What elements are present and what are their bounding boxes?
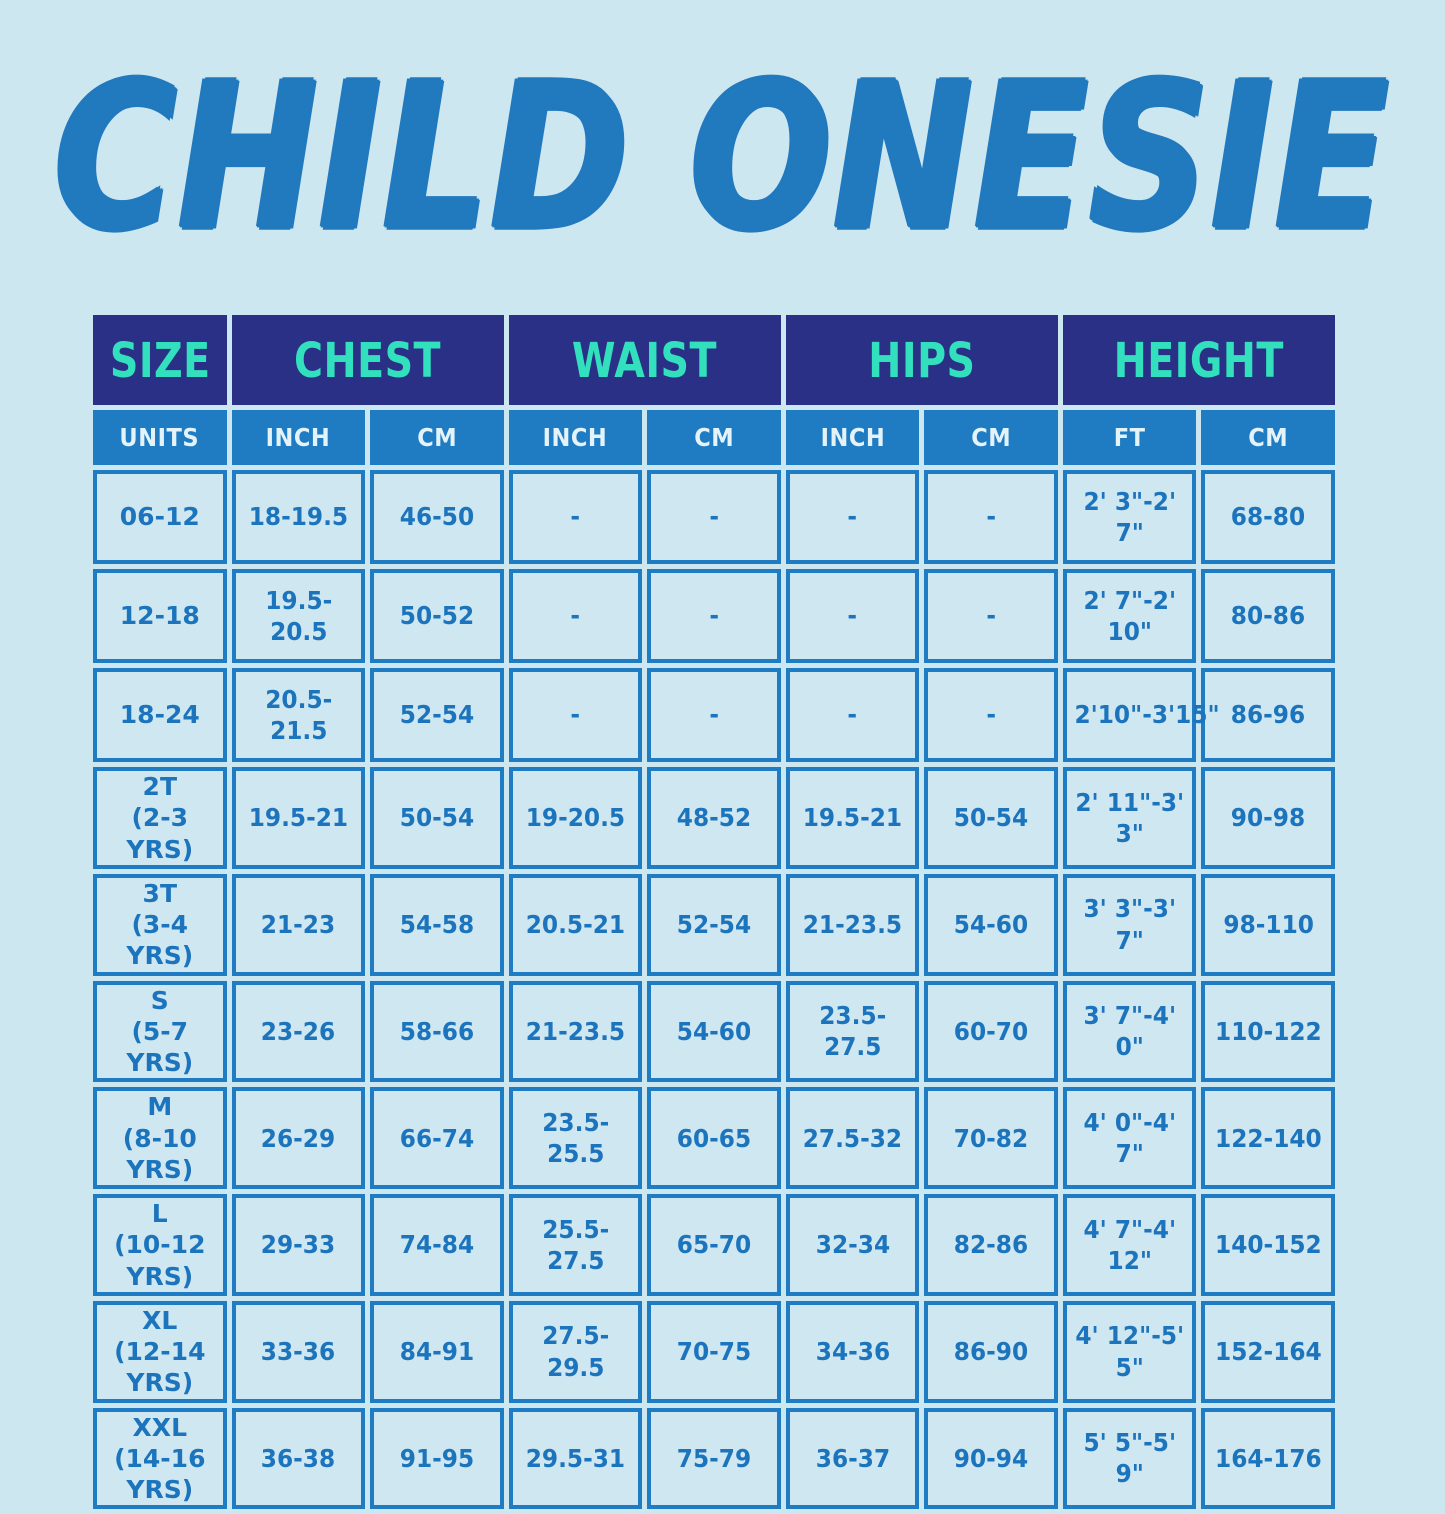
group-header-row: SIZECHESTWAISTHIPSHEIGHT xyxy=(93,315,1335,405)
table-row: L(10-12 YRS)29-3374-8425.5-27.565-7032-3… xyxy=(93,1194,1335,1296)
table-row: 3T(3-4 YRS)21-2354-5820.5-2152-5421-23.5… xyxy=(93,874,1335,976)
size-chart-page: CHILD ONESIE SIZECHESTWAISTHIPSHEIGHT UN… xyxy=(0,0,1445,1445)
cell-height-ft: 2'10"-3'15" xyxy=(1063,668,1197,762)
cell-value: 34-36 xyxy=(815,1336,889,1367)
cell-value: 2' 3"-2' 7" xyxy=(1073,486,1186,549)
size-label: XL xyxy=(99,1305,221,1336)
cell-height-cm: 164-176 xyxy=(1201,1408,1335,1510)
cell-hips-cm: 70-82 xyxy=(924,1087,1058,1189)
cell-value: 60-70 xyxy=(954,1016,1028,1047)
size-age-label: (5-7 YRS) xyxy=(99,1016,221,1079)
cell-value: 90-98 xyxy=(1231,802,1305,833)
unit-header-7: FT xyxy=(1063,410,1197,465)
cell-value: 86-90 xyxy=(954,1336,1028,1367)
cell-hips-inch: - xyxy=(786,470,920,564)
cell-chest-inch: 19.5-21 xyxy=(232,767,366,869)
cell-value: 4' 7"-4' 12" xyxy=(1073,1214,1186,1277)
cell-hips-cm: 86-90 xyxy=(924,1301,1058,1403)
size-label: S xyxy=(99,985,221,1016)
unit-header-0: UNITS xyxy=(93,410,227,465)
cell-value: - xyxy=(571,699,581,730)
cell-value: 50-52 xyxy=(400,600,474,631)
cell-value: 164-176 xyxy=(1215,1443,1322,1474)
size-label: 2T xyxy=(99,771,221,802)
unit-header-label: INCH xyxy=(266,423,331,452)
cell-chest-inch: 26-29 xyxy=(232,1087,366,1189)
cell-hips-cm: 82-86 xyxy=(924,1194,1058,1296)
cell-value: 2' 7"-2' 10" xyxy=(1073,585,1186,648)
cell-waist-cm: 65-70 xyxy=(647,1194,781,1296)
size-label: M xyxy=(99,1091,221,1122)
unit-header-8: CM xyxy=(1201,410,1335,465)
cell-waist-inch: 27.5-29.5 xyxy=(509,1301,643,1403)
cell-value: - xyxy=(848,600,858,631)
size-age-label: (8-10 YRS) xyxy=(99,1123,221,1186)
cell-size: L(10-12 YRS) xyxy=(93,1194,227,1296)
cell-size: M(8-10 YRS) xyxy=(93,1087,227,1189)
cell-chest-cm: 74-84 xyxy=(370,1194,504,1296)
cell-value: 21-23.5 xyxy=(803,909,902,940)
cell-height-cm: 98-110 xyxy=(1201,874,1335,976)
group-header-label: HEIGHT xyxy=(1114,332,1284,388)
unit-header-label: CM xyxy=(694,423,734,452)
size-age-label: (3-4 YRS) xyxy=(99,909,221,972)
cell-value: 60-65 xyxy=(677,1123,751,1154)
cell-height-ft: 3' 3"-3' 7" xyxy=(1063,874,1197,976)
cell-value: 23.5-25.5 xyxy=(519,1107,632,1170)
cell-waist-cm: 60-65 xyxy=(647,1087,781,1189)
cell-waist-cm: 54-60 xyxy=(647,981,781,1083)
cell-value: - xyxy=(571,501,581,532)
cell-waist-inch: 23.5-25.5 xyxy=(509,1087,643,1189)
cell-value: 19.5-21 xyxy=(249,802,348,833)
cell-waist-cm: 75-79 xyxy=(647,1408,781,1510)
cell-value: 21-23 xyxy=(261,909,335,940)
cell-value: 25.5-27.5 xyxy=(519,1214,632,1277)
cell-value: 58-66 xyxy=(400,1016,474,1047)
group-header-size: SIZE xyxy=(93,315,227,405)
cell-value: - xyxy=(986,699,996,730)
cell-hips-cm: 54-60 xyxy=(924,874,1058,976)
unit-header-4: CM xyxy=(647,410,781,465)
group-header-height: HEIGHT xyxy=(1063,315,1335,405)
size-age-label: (12-14 YRS) xyxy=(99,1336,221,1399)
cell-height-ft: 2' 11"-3' 3" xyxy=(1063,767,1197,869)
cell-value: 110-122 xyxy=(1215,1016,1322,1047)
cell-value: 2' 11"-3' 3" xyxy=(1073,787,1186,850)
cell-hips-cm: 90-94 xyxy=(924,1408,1058,1510)
cell-waist-inch: 21-23.5 xyxy=(509,981,643,1083)
cell-value: 29-33 xyxy=(261,1229,335,1260)
cell-height-ft: 4' 7"-4' 12" xyxy=(1063,1194,1197,1296)
cell-value: - xyxy=(986,501,996,532)
size-chart-table: SIZECHESTWAISTHIPSHEIGHT UNITSINCHCMINCH… xyxy=(88,310,1340,1514)
cell-height-ft: 4' 0"-4' 7" xyxy=(1063,1087,1197,1189)
group-header-label: WAIST xyxy=(572,332,717,388)
cell-hips-cm: 50-54 xyxy=(924,767,1058,869)
cell-value: - xyxy=(709,501,719,532)
cell-value: 32-34 xyxy=(815,1229,889,1260)
table-row: S(5-7 YRS)23-2658-6621-23.554-6023.5-27.… xyxy=(93,981,1335,1083)
cell-value: 36-37 xyxy=(815,1443,889,1474)
cell-height-ft: 5' 5"-5' 9" xyxy=(1063,1408,1197,1510)
cell-value: 70-75 xyxy=(677,1336,751,1367)
table-row: XXL(14-16 YRS)36-3891-9529.5-3175-7936-3… xyxy=(93,1408,1335,1510)
cell-waist-inch: 20.5-21 xyxy=(509,874,643,976)
cell-height-cm: 68-80 xyxy=(1201,470,1335,564)
cell-value: 21-23.5 xyxy=(526,1016,625,1047)
size-label: 3T xyxy=(99,878,221,909)
cell-value: - xyxy=(848,699,858,730)
cell-value: 84-91 xyxy=(400,1336,474,1367)
table-row: 2T(2-3 YRS)19.5-2150-5419-20.548-5219.5-… xyxy=(93,767,1335,869)
cell-size: XXL(14-16 YRS) xyxy=(93,1408,227,1510)
cell-size: 06-12 xyxy=(93,470,227,564)
cell-value: 54-58 xyxy=(400,909,474,940)
cell-waist-inch: 19-20.5 xyxy=(509,767,643,869)
group-header-label: SIZE xyxy=(109,332,210,388)
cell-value: 20.5-21.5 xyxy=(242,684,355,747)
cell-value: 65-70 xyxy=(677,1229,751,1260)
cell-value: 52-54 xyxy=(400,699,474,730)
cell-value: 48-52 xyxy=(677,802,751,833)
group-header-label: CHEST xyxy=(294,332,441,388)
cell-hips-inch: 19.5-21 xyxy=(786,767,920,869)
table-row: 18-2420.5-21.552-54----2'10"-3'15"86-96 xyxy=(93,668,1335,762)
cell-value: 91-95 xyxy=(400,1443,474,1474)
cell-value: 19-20.5 xyxy=(526,802,625,833)
cell-value: 152-164 xyxy=(1215,1336,1322,1367)
cell-value: 36-38 xyxy=(261,1443,335,1474)
unit-header-2: CM xyxy=(370,410,504,465)
group-header-chest: CHEST xyxy=(232,315,504,405)
size-label: 18-24 xyxy=(99,699,221,730)
cell-chest-cm: 50-54 xyxy=(370,767,504,869)
cell-value: 19.5-20.5 xyxy=(242,585,355,648)
cell-value: 27.5-29.5 xyxy=(519,1320,632,1383)
cell-value: - xyxy=(986,600,996,631)
cell-height-ft: 2' 3"-2' 7" xyxy=(1063,470,1197,564)
cell-value: 86-96 xyxy=(1231,699,1305,730)
cell-chest-inch: 29-33 xyxy=(232,1194,366,1296)
unit-header-label: CM xyxy=(971,423,1011,452)
cell-height-ft: 4' 12"-5' 5" xyxy=(1063,1301,1197,1403)
cell-hips-inch: 27.5-32 xyxy=(786,1087,920,1189)
size-chart-table-area: SIZECHESTWAISTHIPSHEIGHT UNITSINCHCMINCH… xyxy=(88,310,1340,1514)
cell-chest-cm: 58-66 xyxy=(370,981,504,1083)
cell-value: 3' 3"-3' 7" xyxy=(1073,893,1186,956)
cell-hips-cm: - xyxy=(924,470,1058,564)
cell-size: S(5-7 YRS) xyxy=(93,981,227,1083)
cell-value: 2'10"-3'15" xyxy=(1074,699,1219,730)
cell-value: 20.5-21 xyxy=(526,909,625,940)
cell-height-ft: 3' 7"-4' 0" xyxy=(1063,981,1197,1083)
cell-value: 82-86 xyxy=(954,1229,1028,1260)
cell-chest-inch: 33-36 xyxy=(232,1301,366,1403)
cell-chest-cm: 50-52 xyxy=(370,569,504,663)
cell-hips-inch: 36-37 xyxy=(786,1408,920,1510)
cell-hips-inch: - xyxy=(786,569,920,663)
cell-value: 140-152 xyxy=(1215,1229,1322,1260)
cell-hips-cm: - xyxy=(924,569,1058,663)
unit-header-label: INCH xyxy=(820,423,885,452)
cell-waist-inch: - xyxy=(509,470,643,564)
cell-value: 26-29 xyxy=(261,1123,335,1154)
cell-value: - xyxy=(709,600,719,631)
cell-chest-cm: 84-91 xyxy=(370,1301,504,1403)
cell-value: - xyxy=(571,600,581,631)
cell-value: 23-26 xyxy=(261,1016,335,1047)
cell-height-cm: 122-140 xyxy=(1201,1087,1335,1189)
unit-header-6: CM xyxy=(924,410,1058,465)
cell-chest-cm: 46-50 xyxy=(370,470,504,564)
table-row: 12-1819.5-20.550-52----2' 7"-2' 10"80-86 xyxy=(93,569,1335,663)
cell-value: 18-19.5 xyxy=(249,501,348,532)
unit-header-1: INCH xyxy=(232,410,366,465)
cell-value: 19.5-21 xyxy=(803,802,902,833)
cell-value: 66-74 xyxy=(400,1123,474,1154)
cell-value: 4' 0"-4' 7" xyxy=(1073,1107,1186,1170)
cell-size: 3T(3-4 YRS) xyxy=(93,874,227,976)
group-header-hips: HIPS xyxy=(786,315,1058,405)
table-row: M(8-10 YRS)26-2966-7423.5-25.560-6527.5-… xyxy=(93,1087,1335,1189)
cell-value: 27.5-32 xyxy=(803,1123,902,1154)
cell-waist-cm: 48-52 xyxy=(647,767,781,869)
group-header-waist: WAIST xyxy=(509,315,781,405)
size-age-label: (2-3 YRS) xyxy=(99,802,221,865)
cell-size: 12-18 xyxy=(93,569,227,663)
cell-value: 33-36 xyxy=(261,1336,335,1367)
cell-value: 80-86 xyxy=(1231,600,1305,631)
cell-chest-inch: 36-38 xyxy=(232,1408,366,1510)
cell-chest-cm: 54-58 xyxy=(370,874,504,976)
cell-value: 5' 5"-5' 9" xyxy=(1073,1427,1186,1490)
cell-height-cm: 110-122 xyxy=(1201,981,1335,1083)
cell-size: 18-24 xyxy=(93,668,227,762)
size-label: 12-18 xyxy=(99,600,221,631)
unit-header-5: INCH xyxy=(786,410,920,465)
cell-hips-inch: 23.5-27.5 xyxy=(786,981,920,1083)
cell-value: 70-82 xyxy=(954,1123,1028,1154)
size-chart-body: 06-1218-19.546-50----2' 3"-2' 7"68-8012-… xyxy=(93,470,1335,1509)
cell-height-cm: 152-164 xyxy=(1201,1301,1335,1403)
page-title: CHILD ONESIE xyxy=(0,44,1445,274)
unit-header-label: UNITS xyxy=(120,423,200,452)
cell-waist-cm: 52-54 xyxy=(647,874,781,976)
cell-waist-inch: 25.5-27.5 xyxy=(509,1194,643,1296)
cell-chest-inch: 21-23 xyxy=(232,874,366,976)
cell-value: 50-54 xyxy=(954,802,1028,833)
cell-chest-inch: 18-19.5 xyxy=(232,470,366,564)
size-age-label: (10-12 YRS) xyxy=(99,1229,221,1292)
cell-height-cm: 140-152 xyxy=(1201,1194,1335,1296)
cell-value: 3' 7"-4' 0" xyxy=(1073,1000,1186,1063)
cell-value: 68-80 xyxy=(1231,501,1305,532)
cell-height-cm: 90-98 xyxy=(1201,767,1335,869)
size-label: 06-12 xyxy=(99,501,221,532)
cell-waist-cm: - xyxy=(647,569,781,663)
unit-header-row: UNITSINCHCMINCHCMINCHCMFTCM xyxy=(93,410,1335,465)
cell-hips-cm: 60-70 xyxy=(924,981,1058,1083)
cell-hips-inch: 34-36 xyxy=(786,1301,920,1403)
cell-height-cm: 80-86 xyxy=(1201,569,1335,663)
cell-value: 122-140 xyxy=(1215,1123,1322,1154)
cell-value: - xyxy=(848,501,858,532)
cell-value: 90-94 xyxy=(954,1443,1028,1474)
cell-height-cm: 86-96 xyxy=(1201,668,1335,762)
cell-value: 75-79 xyxy=(677,1443,751,1474)
cell-hips-inch: 32-34 xyxy=(786,1194,920,1296)
cell-size: 2T(2-3 YRS) xyxy=(93,767,227,869)
cell-hips-inch: 21-23.5 xyxy=(786,874,920,976)
cell-height-ft: 2' 7"-2' 10" xyxy=(1063,569,1197,663)
cell-value: 54-60 xyxy=(677,1016,751,1047)
group-header-label: HIPS xyxy=(868,332,975,388)
cell-chest-inch: 23-26 xyxy=(232,981,366,1083)
cell-value: 46-50 xyxy=(400,501,474,532)
size-label: XXL xyxy=(99,1412,221,1443)
table-row: XL(12-14 YRS)33-3684-9127.5-29.570-7534-… xyxy=(93,1301,1335,1403)
cell-value: 98-110 xyxy=(1223,909,1314,940)
cell-value: 52-54 xyxy=(677,909,751,940)
page-title-text: CHILD ONESIE xyxy=(54,58,1390,261)
cell-hips-inch: - xyxy=(786,668,920,762)
size-age-label: (14-16 YRS) xyxy=(99,1443,221,1506)
cell-size: XL(12-14 YRS) xyxy=(93,1301,227,1403)
cell-waist-cm: 70-75 xyxy=(647,1301,781,1403)
cell-waist-inch: - xyxy=(509,569,643,663)
unit-header-label: INCH xyxy=(543,423,608,452)
unit-header-label: CM xyxy=(1248,423,1288,452)
cell-chest-inch: 20.5-21.5 xyxy=(232,668,366,762)
cell-waist-inch: 29.5-31 xyxy=(509,1408,643,1510)
cell-waist-cm: - xyxy=(647,668,781,762)
cell-value: 54-60 xyxy=(954,909,1028,940)
unit-header-3: INCH xyxy=(509,410,643,465)
cell-value: - xyxy=(709,699,719,730)
cell-value: 50-54 xyxy=(400,802,474,833)
unit-header-label: CM xyxy=(417,423,457,452)
cell-waist-cm: - xyxy=(647,470,781,564)
table-row: 06-1218-19.546-50----2' 3"-2' 7"68-80 xyxy=(93,470,1335,564)
cell-chest-cm: 66-74 xyxy=(370,1087,504,1189)
cell-value: 29.5-31 xyxy=(526,1443,625,1474)
cell-chest-inch: 19.5-20.5 xyxy=(232,569,366,663)
cell-value: 23.5-27.5 xyxy=(796,1000,909,1063)
size-label: L xyxy=(99,1198,221,1229)
cell-value: 4' 12"-5' 5" xyxy=(1073,1320,1186,1383)
cell-chest-cm: 91-95 xyxy=(370,1408,504,1510)
cell-hips-cm: - xyxy=(924,668,1058,762)
cell-value: 74-84 xyxy=(400,1229,474,1260)
cell-chest-cm: 52-54 xyxy=(370,668,504,762)
unit-header-label: FT xyxy=(1114,423,1146,452)
cell-waist-inch: - xyxy=(509,668,643,762)
